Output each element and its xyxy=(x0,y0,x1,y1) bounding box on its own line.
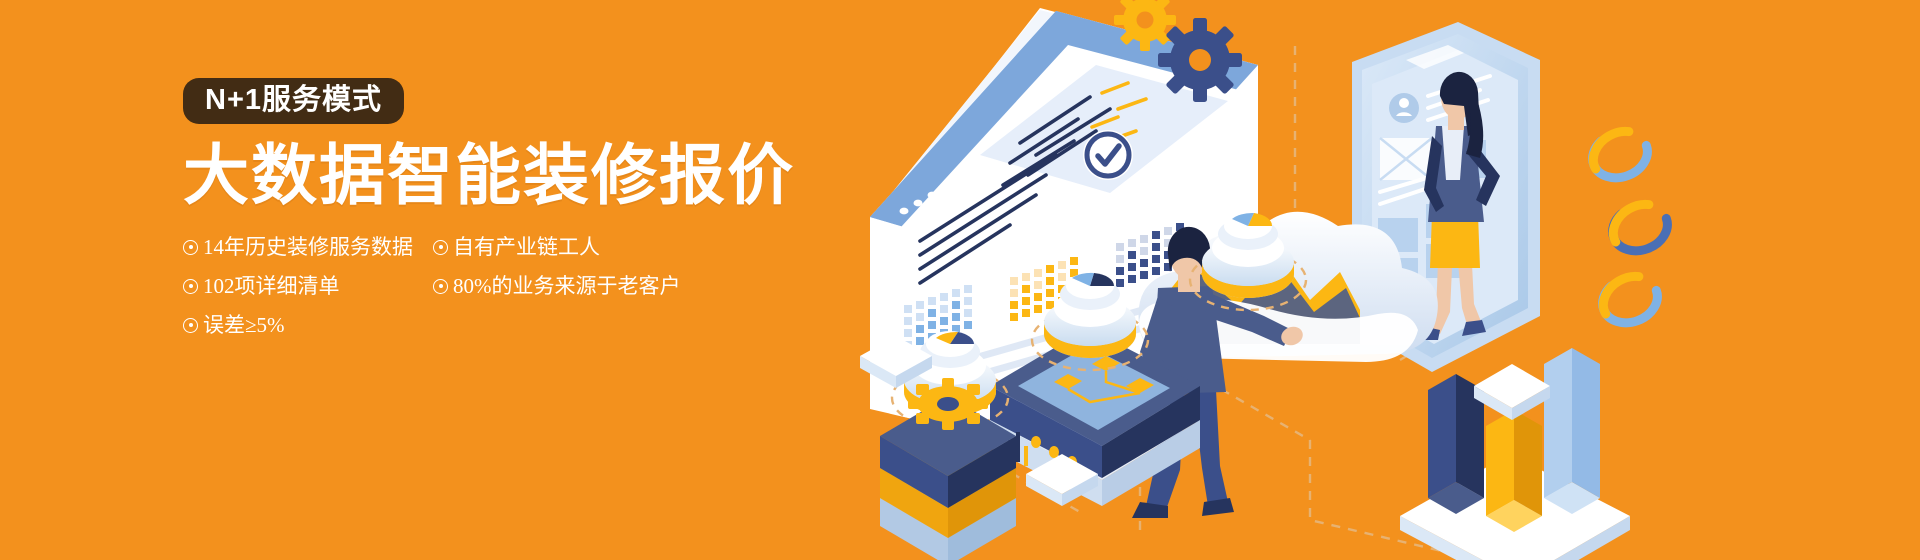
list-item-label: 误差≥5% xyxy=(203,315,285,336)
list-item: 102项详细清单 xyxy=(183,276,433,297)
feature-list: 14年历史装修服务数据 102项详细清单 误差≥5% 自有产业链工人 xyxy=(183,237,883,354)
ring-icon-3 xyxy=(1595,267,1665,333)
gear-icon-large xyxy=(1158,18,1242,102)
list-item-label: 80%的业务来源于老客户 xyxy=(453,276,681,297)
circled-dot-icon xyxy=(433,279,448,294)
promo-banner: N+1服务模式 大数据智能装修报价 14年历史装修服务数据 102项详细清单 误… xyxy=(0,0,1920,560)
circled-dot-icon xyxy=(433,240,448,255)
circled-dot-icon xyxy=(183,279,198,294)
list-item-label: 102项详细清单 xyxy=(203,276,340,297)
check-badge-icon xyxy=(1083,130,1133,180)
ring-icon-1 xyxy=(1585,122,1655,188)
list-item-label: 自有产业链工人 xyxy=(453,237,600,258)
page-title: 大数据智能装修报价 xyxy=(183,141,883,210)
list-item: 自有产业链工人 xyxy=(433,237,733,258)
text-block: N+1服务模式 大数据智能装修报价 14年历史装修服务数据 102项详细清单 误… xyxy=(183,78,883,354)
list-item: 80%的业务来源于老客户 xyxy=(433,276,733,297)
isometric-big-data-illustration xyxy=(840,0,1920,560)
list-item: 误差≥5% xyxy=(183,315,433,336)
list-item: 14年历史装修服务数据 xyxy=(183,237,433,258)
list-item-label: 14年历史装修服务数据 xyxy=(203,237,413,258)
circled-dot-icon xyxy=(183,240,198,255)
feature-list-right-column: 自有产业链工人 80%的业务来源于老客户 xyxy=(433,237,733,315)
feature-list-left-column: 14年历史装修服务数据 102项详细清单 误差≥5% xyxy=(183,237,433,354)
platform-tile-3 xyxy=(1474,364,1550,420)
service-model-badge: N+1服务模式 xyxy=(183,78,404,124)
ring-icon-2 xyxy=(1605,195,1675,261)
circled-dot-icon xyxy=(183,318,198,333)
